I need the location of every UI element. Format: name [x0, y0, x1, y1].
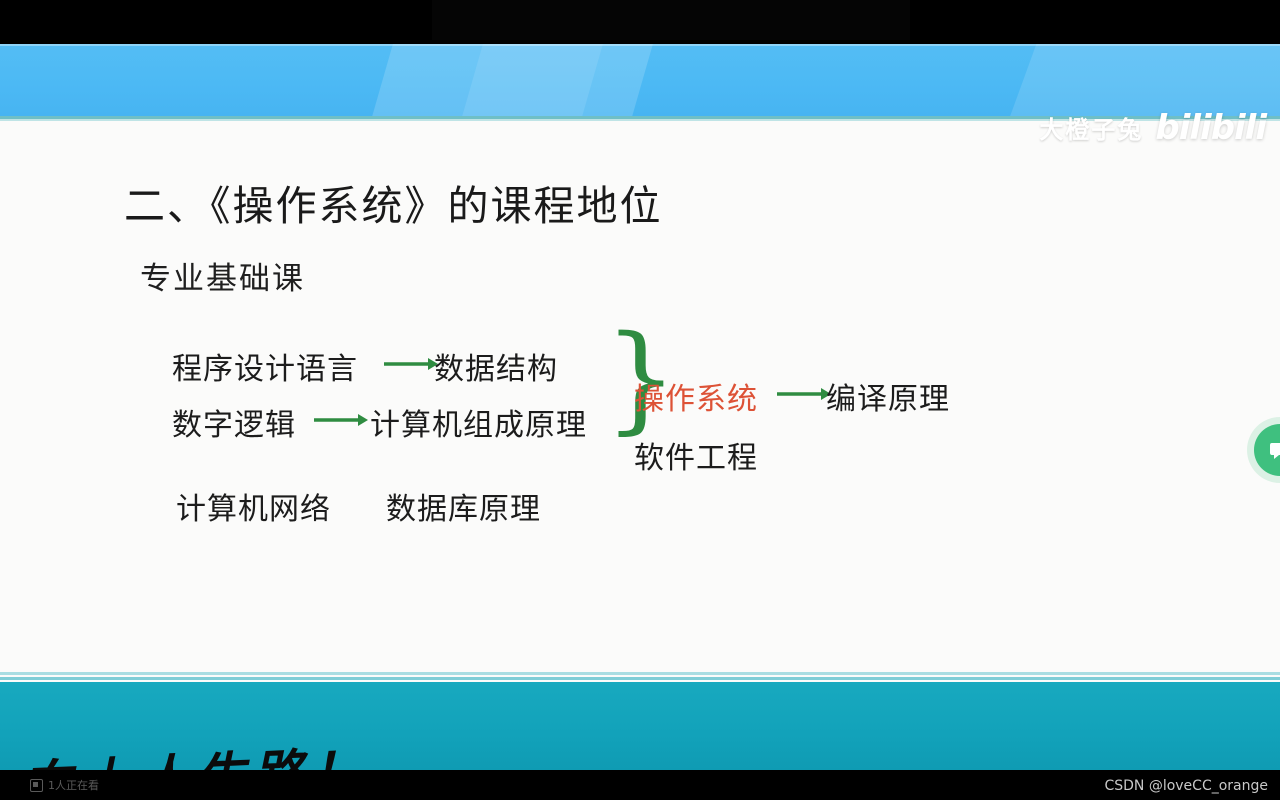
arrow-right-icon: [775, 384, 831, 404]
source-watermark: CSDN @loveCC_orange: [1104, 778, 1268, 794]
arrow-right-icon: [312, 410, 368, 430]
diagram-node-compiler-principles: 编译原理: [826, 374, 950, 418]
diagram-node-computer-organization: 计算机组成原理: [370, 400, 587, 444]
letterbox-top-bar: [0, 0, 1280, 44]
chat-glyph-icon: [1267, 437, 1280, 463]
footer-rule-light: [0, 672, 1280, 675]
diagram-node-programming-language: 程序设计语言: [172, 344, 358, 388]
letterbox-bottom-bar: [0, 770, 1280, 800]
letterbox-top-inset: [432, 0, 910, 40]
arrow-right-icon: [382, 354, 438, 374]
diagram-node-computer-network: 计算机网络: [176, 484, 331, 528]
viewer-screen-icon: [30, 779, 43, 792]
video-player-screen: 大橙子兔 bilibili 二、《操作系统》的课程地位 专业基础课 程序设计语言…: [0, 0, 1280, 800]
course-relation-diagram: 程序设计语言 数据结构 数字逻辑 计算机组成原理 计算机网络 数据库原理 } 操…: [0, 44, 1280, 770]
diagram-node-operating-system: 操作系统: [634, 374, 758, 418]
diagram-node-software-engineering: 软件工程: [634, 433, 758, 477]
viewer-count-status: 1人正在看: [30, 777, 99, 793]
viewer-count-label: 1人正在看: [48, 777, 99, 793]
diagram-node-data-structure: 数据结构: [434, 344, 558, 388]
diagram-node-digital-logic: 数字逻辑: [172, 400, 296, 444]
diagram-node-database-principles: 数据库原理: [386, 484, 541, 528]
footer-rule-mid: [0, 677, 1280, 680]
presentation-slide: 大橙子兔 bilibili 二、《操作系统》的课程地位 专业基础课 程序设计语言…: [0, 44, 1280, 770]
